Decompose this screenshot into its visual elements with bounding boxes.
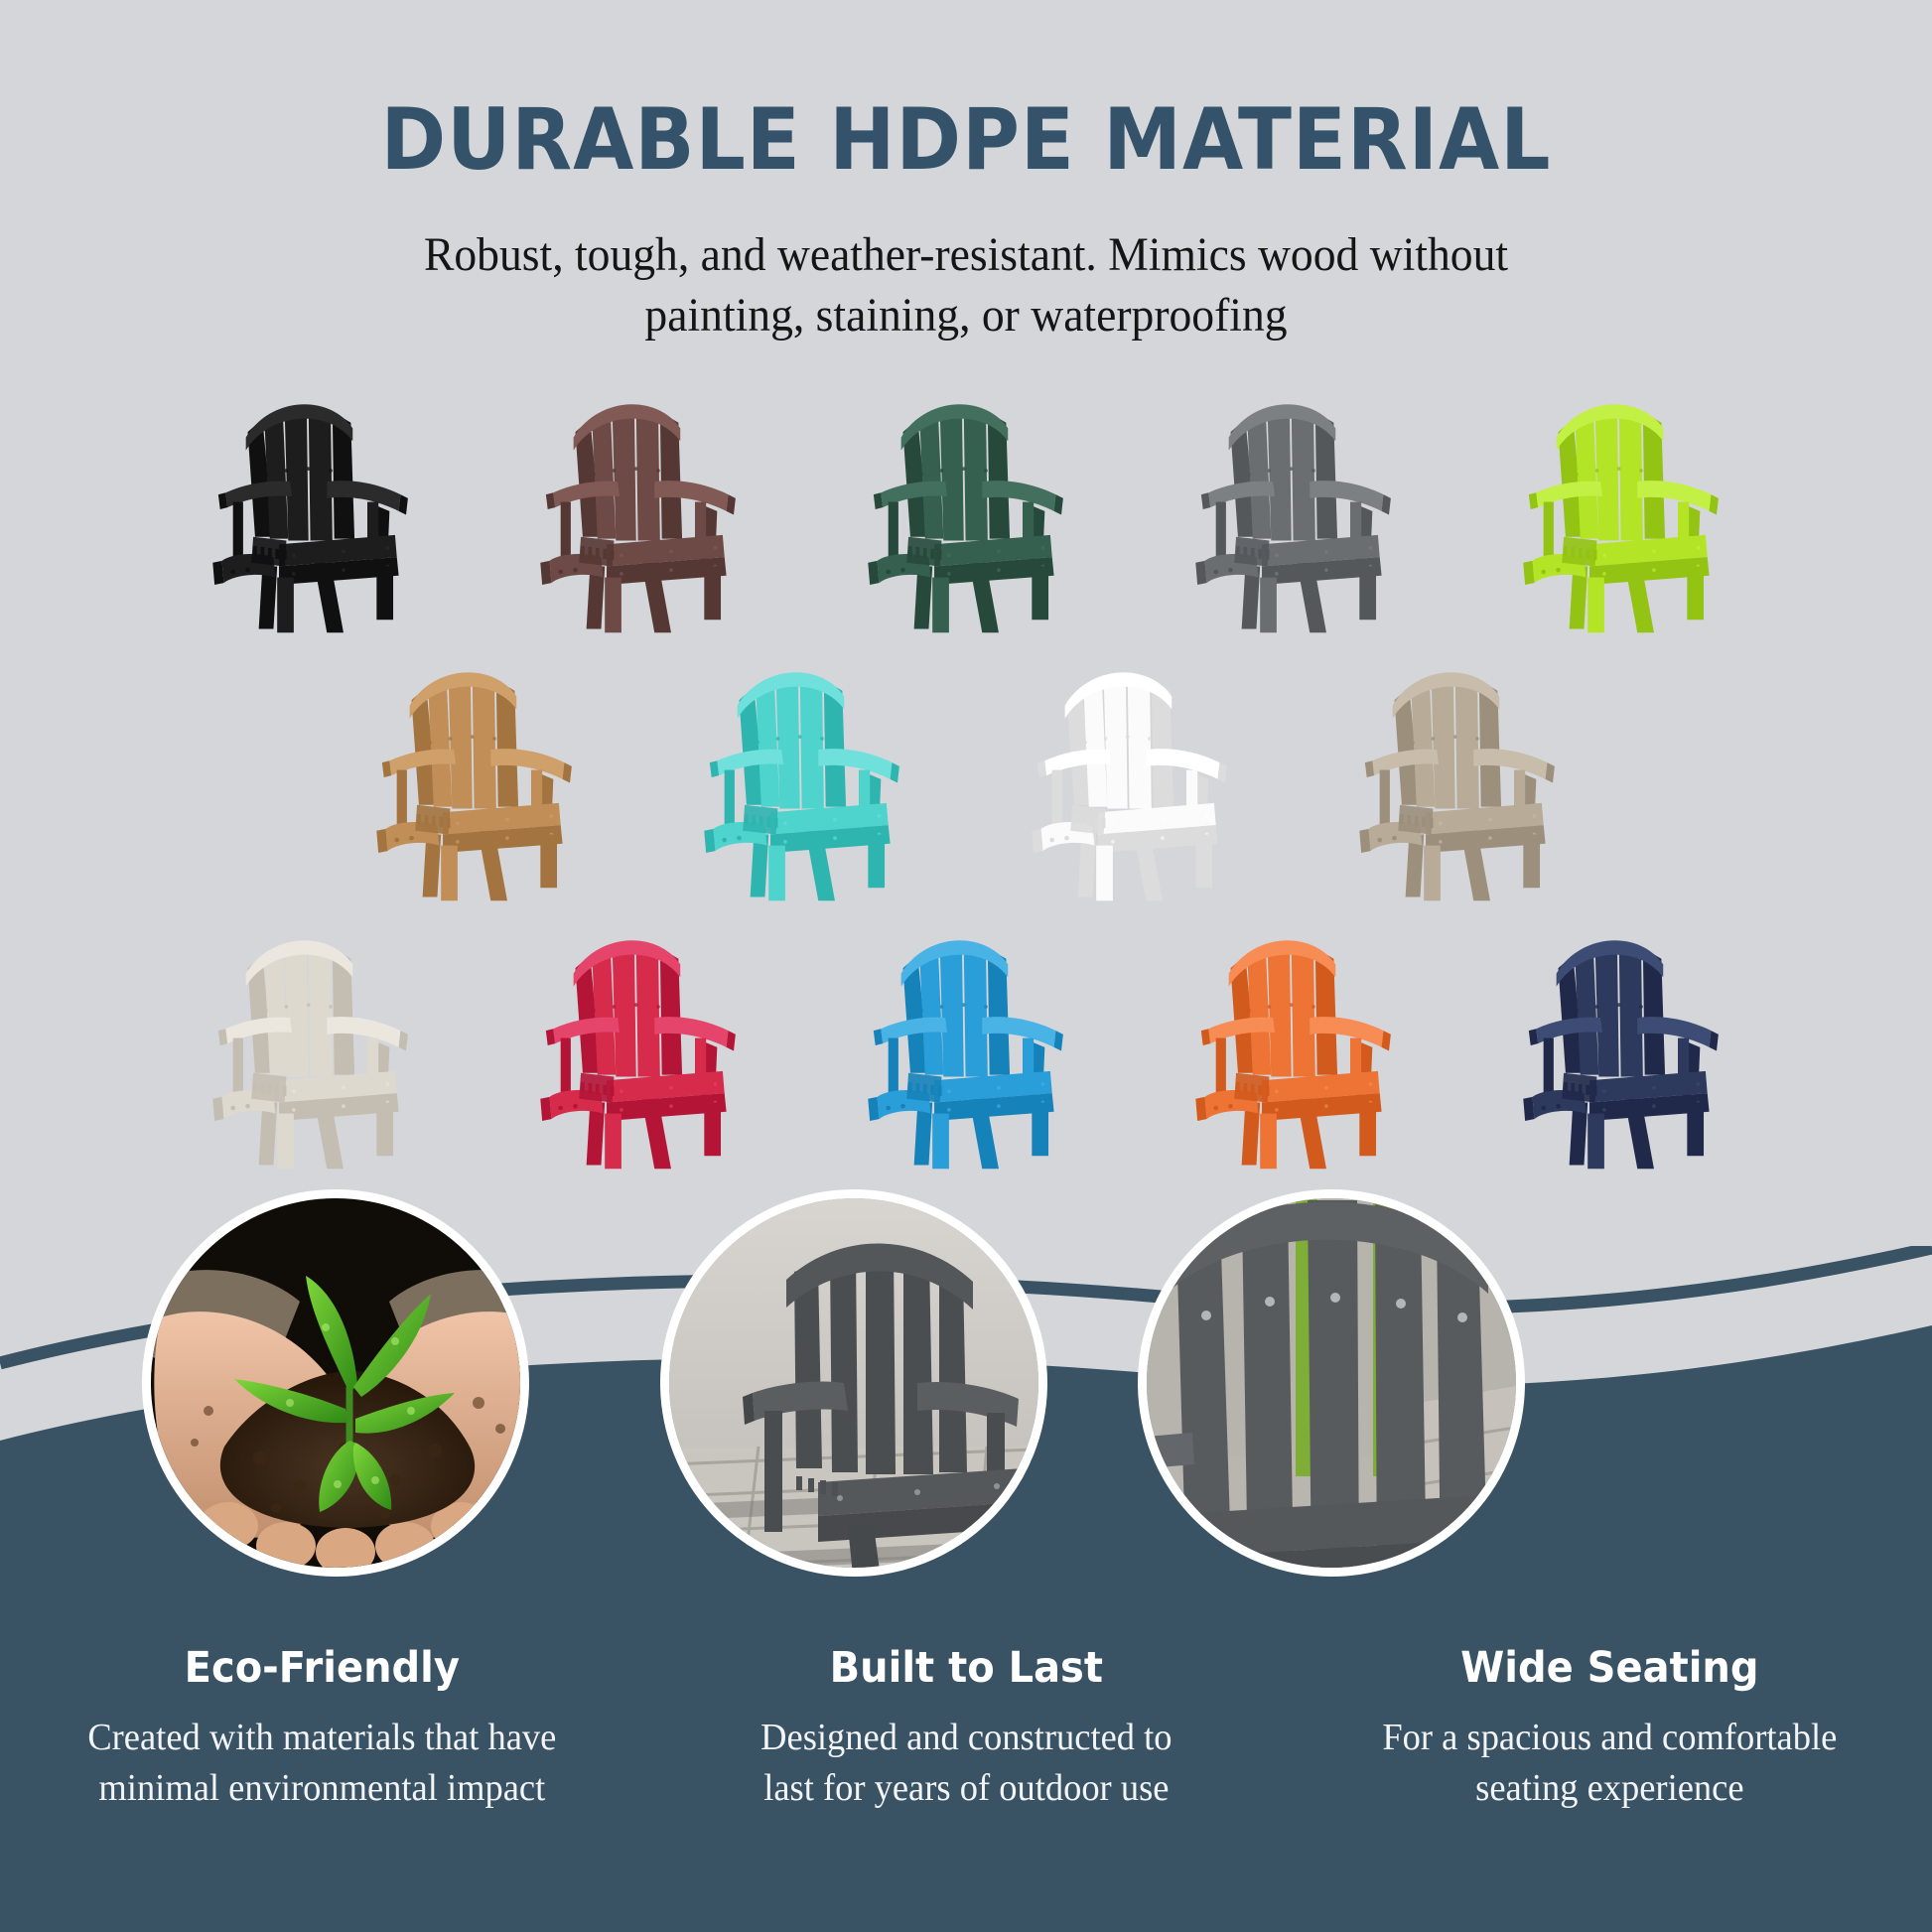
chair-white [1024,650,1237,903]
feature-description: For a spacious and comfortable seating e… [1325,1713,1894,1815]
feature-desc-line-1: Created with materials that have [38,1713,607,1763]
chair-orange [1187,918,1401,1172]
chair-swatch-dark-gray[interactable] [1130,367,1457,635]
chair-row-3 [0,903,1932,1172]
header: DURABLE HDPE MATERIAL Robust, tough, and… [0,0,1932,346]
chair-dark-gray [1187,382,1401,635]
feature-desc-line-1: For a spacious and comfortable [1325,1713,1894,1763]
chair-swatch-red[interactable] [475,903,802,1172]
chair-swatch-turquoise[interactable] [638,635,966,903]
page-subtitle: Robust, tough, and weather-resistant. Mi… [49,224,1884,346]
chair-swatch-sky-blue[interactable] [802,903,1130,1172]
chair-swatch-khaki[interactable] [1294,635,1621,903]
chair-swatch-dark-brown[interactable] [475,367,802,635]
feature-desc-line-1: Designed and constructed to [682,1713,1251,1763]
chair-navy-blue [1515,918,1728,1172]
chair-turquoise [696,650,909,903]
page-title: DURABLE HDPE MATERIAL [77,97,1855,183]
chair-swatch-navy-blue[interactable] [1457,903,1785,1172]
feature-title: Eco-Friendly [47,1643,598,1693]
dark-panel-shape [0,1325,1932,1932]
feature-description: Designed and constructed to last for yea… [682,1713,1251,1815]
feature-desc-line-2: minimal environmental impact [38,1763,607,1814]
feature-description: Created with materials that have minimal… [38,1713,607,1815]
chair-swatch-lime-green[interactable] [1457,367,1785,635]
chair-khaki [1351,650,1565,903]
chair-swatch-ivory[interactable] [147,903,475,1172]
chair-swatch-dark-green[interactable] [802,367,1130,635]
feature-title: Wide Seating [1334,1643,1885,1693]
chair-teak-tan [368,650,582,903]
chair-sky-blue [860,918,1073,1172]
chair-swatch-white[interactable] [966,635,1294,903]
feature-desc-line-2: seating experience [1325,1763,1894,1814]
feature-built-to-last: Built to Last Designed and constructed t… [644,1643,1289,1815]
feature-desc-line-2: last for years of outdoor use [682,1763,1251,1814]
chair-dark-green [860,382,1073,635]
chair-dark-brown [532,382,746,635]
feature-title: Built to Last [691,1643,1242,1693]
infographic-canvas: DURABLE HDPE MATERIAL Robust, tough, and… [0,0,1932,1932]
feature-eco-friendly: Eco-Friendly Created with materials that… [0,1643,644,1815]
chair-swatch-orange[interactable] [1130,903,1457,1172]
chair-ivory [205,918,418,1172]
wave-divider-panel [0,1246,1932,1932]
chair-red [532,918,746,1172]
feature-wide-seating: Wide Seating For a spacious and comforta… [1288,1643,1932,1815]
chair-swatch-black[interactable] [147,367,475,635]
wave-accent-line [0,1248,1932,1363]
subtitle-line-1: Robust, tough, and weather-resistant. Mi… [49,224,1884,285]
chair-swatch-teak-tan[interactable] [311,635,638,903]
subtitle-line-2: painting, staining, or waterproofing [49,285,1884,345]
chair-lime-green [1515,382,1728,635]
chair-row-2 [0,635,1932,903]
chair-row-1 [0,367,1932,635]
chair-black [205,382,418,635]
chair-color-grid [0,367,1932,1172]
feature-captions: Eco-Friendly Created with materials that… [0,1643,1932,1815]
